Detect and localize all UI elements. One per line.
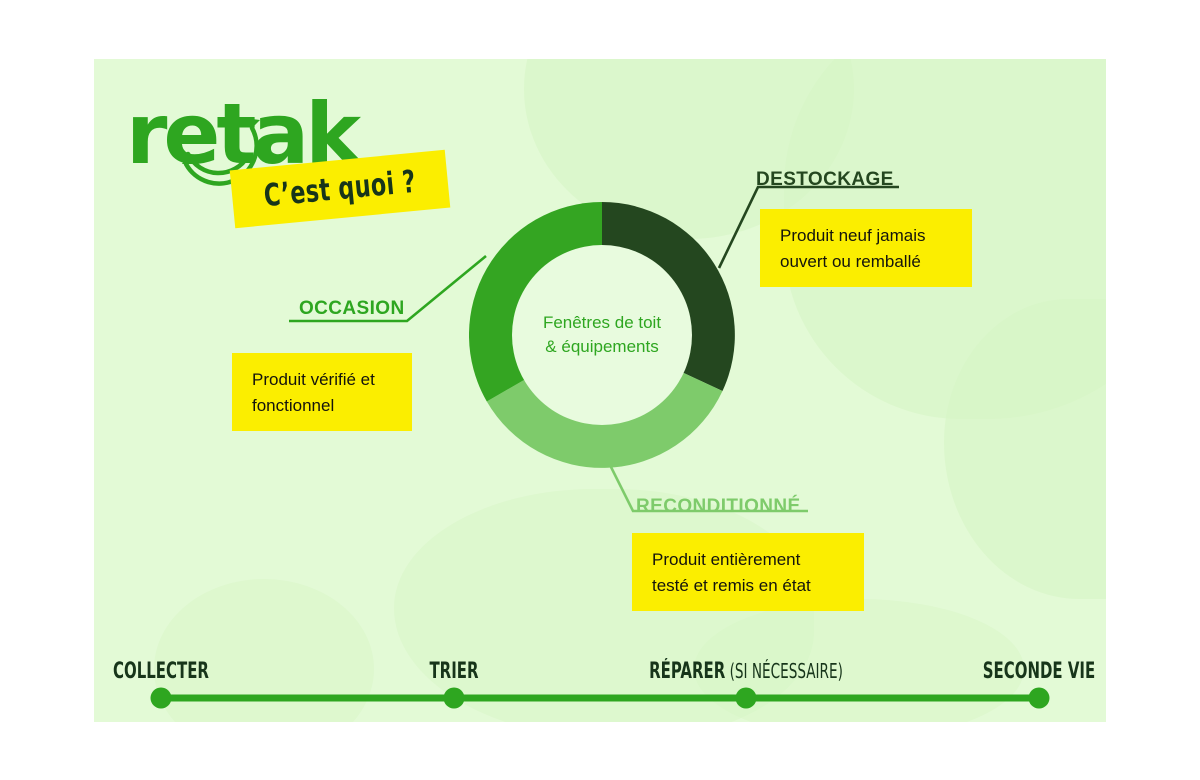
process-timeline: COLLECTER TRIER RÉPARER (SI NÉCESSAIRE) …	[94, 634, 1106, 714]
callout-desc-line-2: testé et remis en état	[652, 573, 844, 599]
timeline-label-seconde-vie: SECONDE VIE	[961, 659, 1106, 684]
donut-hole	[512, 245, 692, 425]
donut-svg	[469, 202, 735, 468]
callout-desc-line-1: Produit entièrement	[652, 547, 844, 573]
timeline-dot-collecter[interactable]	[151, 688, 172, 709]
callout-label-reconditionne: RECONDITIONNÉ	[636, 496, 801, 518]
timeline-label-reparer: RÉPARER (SI NÉCESSAIRE)	[627, 659, 865, 684]
timeline-label-trier: TRIER	[376, 659, 532, 684]
callout-box-occasion: Produit vérifié et fonctionnel	[232, 353, 412, 431]
timeline-label-collecter: COLLECTER	[94, 659, 239, 684]
callout-desc-line-2: ouvert ou remballé	[780, 249, 952, 275]
callout-box-destockage: Produit neuf jamais ouvert ou remballé	[760, 209, 972, 287]
timeline-dot-reparer[interactable]	[736, 688, 757, 709]
callout-box-reconditionne: Produit entièrement testé et remis en ét…	[632, 533, 864, 611]
infographic-canvas: retak C’est quoi ?	[0, 0, 1200, 780]
timeline-dot-trier[interactable]	[444, 688, 465, 709]
timeline-track	[94, 634, 1106, 714]
content-panel: retak C’est quoi ?	[94, 59, 1106, 722]
callout-desc-line-1: Produit neuf jamais	[780, 223, 952, 249]
tagline-text: C’est quoi ?	[262, 164, 417, 214]
timeline-dot-seconde-vie[interactable]	[1029, 688, 1050, 709]
callout-label-destockage: DESTOCKAGE	[756, 169, 894, 191]
product-category-donut-chart: Fenêtres de toit & équipements	[469, 202, 735, 468]
callout-desc-line-1: Produit vérifié et	[252, 367, 392, 393]
callout-desc-line-2: fonctionnel	[252, 393, 392, 419]
callout-label-occasion: OCCASION	[299, 298, 405, 320]
